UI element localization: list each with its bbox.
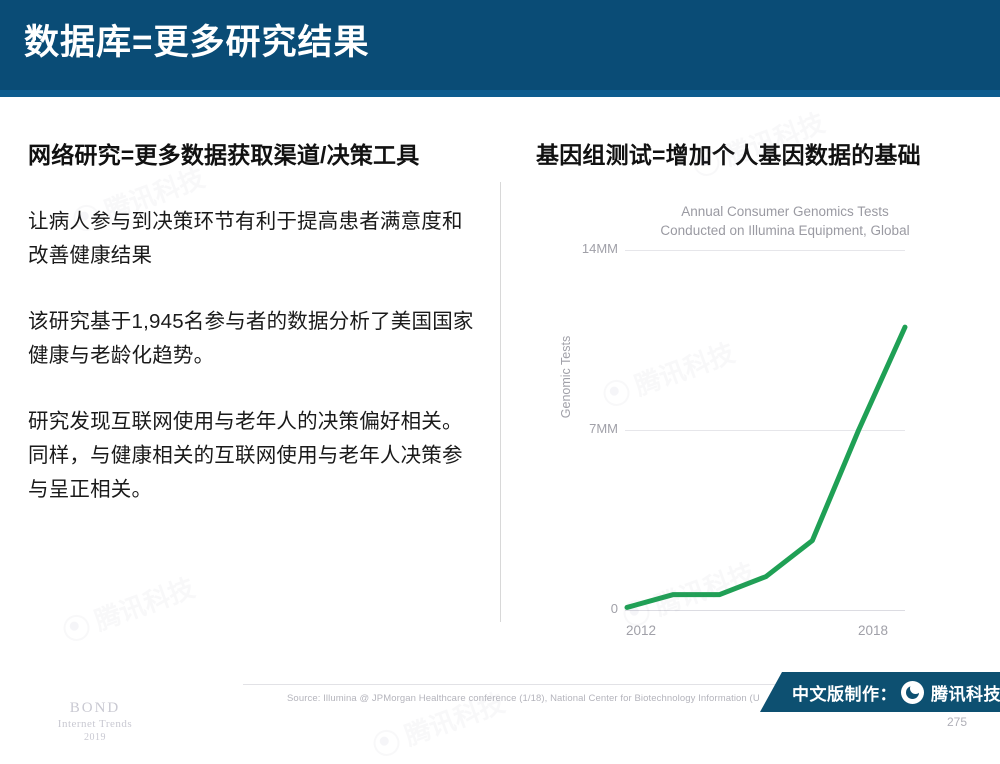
left-paragraph-2: 该研究基于1,945名参与者的数据分析了美国国家健康与老龄化趋势。 (28, 305, 483, 373)
bond-internet-trends-logo: BOND Internet Trends 2019 (30, 700, 160, 744)
left-column-heading: 网络研究=更多数据获取渠道/决策工具 (28, 139, 483, 171)
bond-logo-line-3: 2019 (30, 731, 160, 744)
column-divider (500, 182, 501, 622)
tencent-logo-icon (901, 681, 924, 704)
chart-plot-area (520, 195, 990, 645)
source-note: Source: Illumina @ JPMorgan Healthcare c… (287, 693, 760, 704)
right-column: 基因组测试=增加个人基因数据的基础 (536, 139, 986, 171)
genomic-tests-series-line (627, 327, 905, 607)
bond-logo-line-2: Internet Trends (30, 717, 160, 731)
bond-logo-line-1: BOND (30, 700, 160, 717)
tencent-tech-badge: 中文版制作： 腾讯科技 (760, 672, 1000, 712)
genomic-tests-line-chart: Annual Consumer Genomics Tests Conducted… (520, 195, 990, 645)
left-paragraph-1: 让病人参与到决策环节有利于提高患者满意度和改善健康结果 (28, 205, 483, 273)
right-column-heading: 基因组测试=增加个人基因数据的基础 (536, 139, 986, 171)
badge-brand-label: 腾讯科技 (931, 680, 1000, 705)
left-column: 网络研究=更多数据获取渠道/决策工具 让病人参与到决策环节有利于提高患者满意度和… (28, 139, 483, 507)
page-number: 275 (947, 715, 967, 729)
watermark-logo-icon (370, 726, 403, 759)
badge-prefix-label: 中文版制作： (792, 680, 897, 705)
page-title: 数据库=更多研究结果 (24, 18, 369, 68)
left-paragraph-3: 研究发现互联网使用与老年人的决策偏好相关。同样，与健康相关的互联网使用与老年人决… (28, 405, 483, 507)
header-accent-stripe (0, 90, 1000, 97)
